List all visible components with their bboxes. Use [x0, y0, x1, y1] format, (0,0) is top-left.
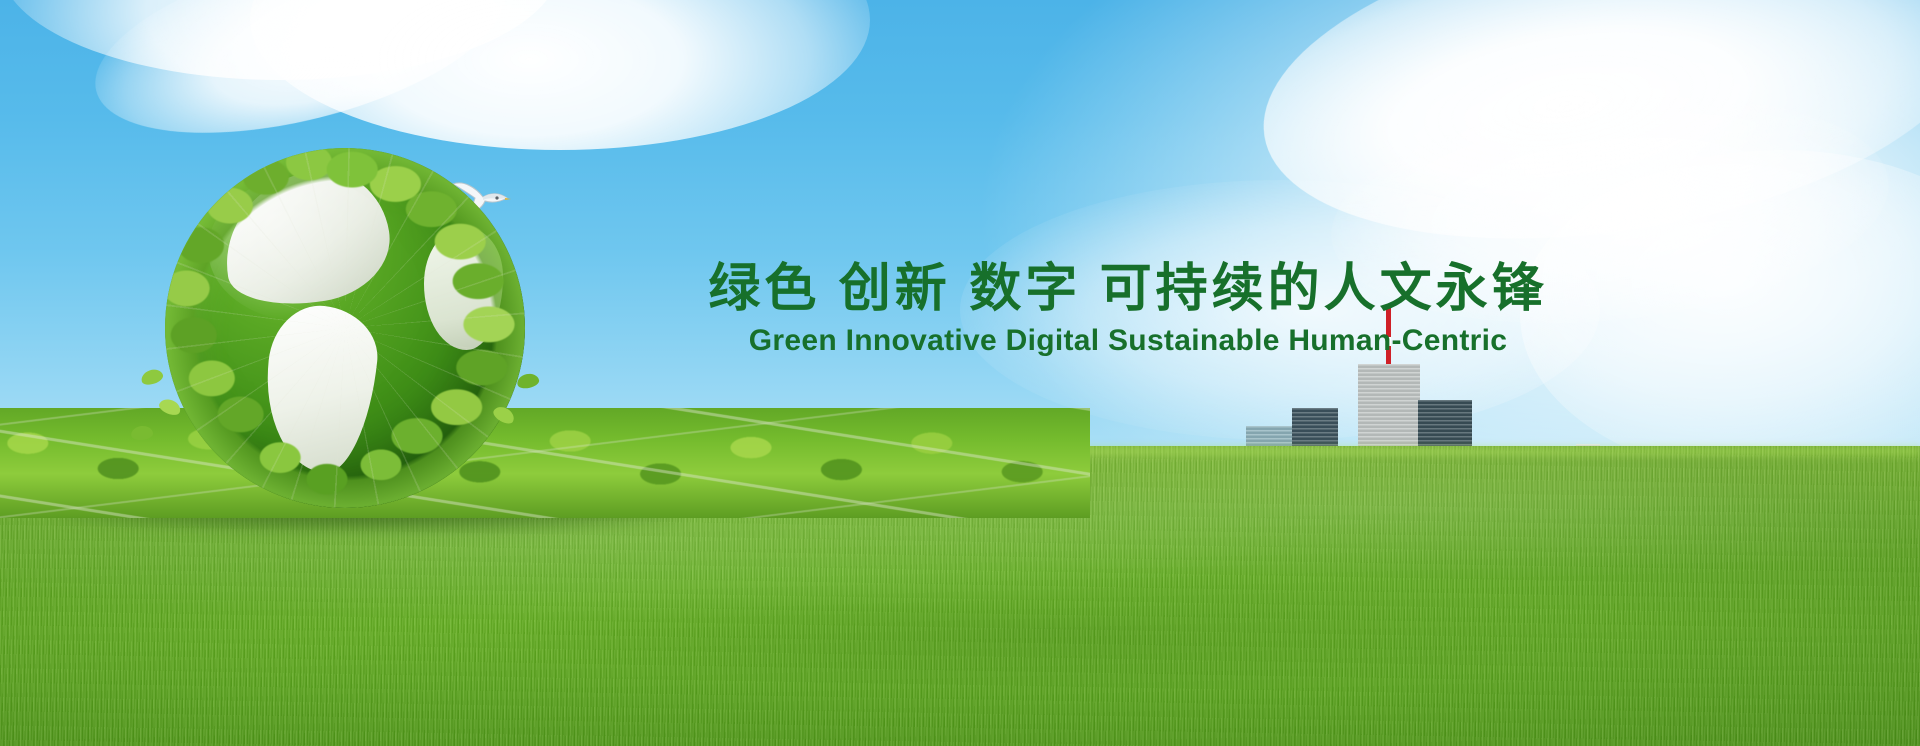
headline-chinese: 绿色 创新 数字 可持续的人文永锋 — [688, 260, 1568, 318]
headline-block: 绿色 创新 数字 可持续的人文永锋 Green Innovative Digit… — [688, 260, 1568, 357]
headline-english: Green Innovative Digital Sustainable Hum… — [688, 324, 1568, 357]
globe-group — [145, 108, 565, 508]
eco-banner: 绿色 创新 数字 可持续的人文永锋 Green Innovative Digit… — [0, 0, 1920, 746]
twig-strands — [165, 148, 525, 508]
falling-leaf-5 — [516, 372, 540, 390]
leaf-covered-earth-globe — [165, 148, 525, 508]
